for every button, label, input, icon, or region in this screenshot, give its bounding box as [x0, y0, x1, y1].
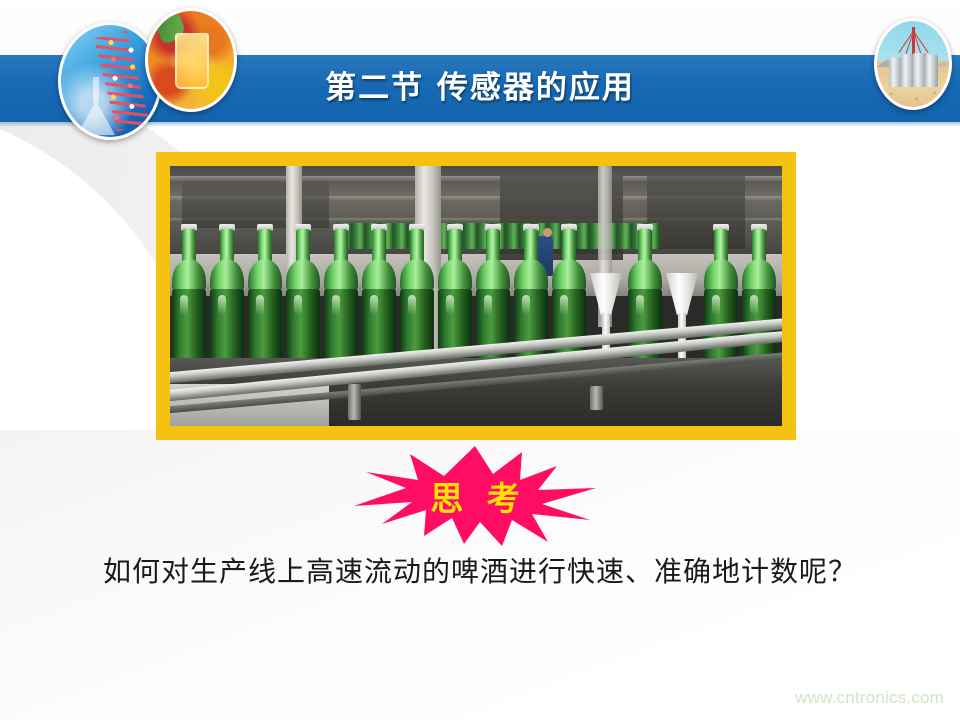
bottle-highlight	[750, 295, 758, 315]
beer-bottle	[172, 229, 206, 369]
funnel-cup	[666, 273, 698, 315]
bottle-shoulder	[400, 259, 434, 291]
silo-tank-icon	[925, 55, 938, 87]
beer-bottle	[400, 229, 434, 369]
bottle-highlight	[484, 295, 492, 315]
bottle-highlight	[332, 295, 340, 315]
dna-dots-icon	[103, 35, 143, 129]
bottle-neck	[258, 229, 272, 263]
photo-frame	[156, 152, 796, 440]
site-watermark: www.cntronics.com	[795, 688, 944, 708]
bottle-shoulder	[552, 259, 586, 291]
bottle-neck	[296, 229, 310, 263]
bottle-highlight	[560, 295, 568, 315]
bottle-highlight	[522, 295, 530, 315]
bottle-shoulder	[476, 259, 510, 291]
bottle-shoulder	[210, 259, 244, 291]
slide-canvas: 第二节 传感器的应用	[0, 0, 960, 720]
bottle-shoulder	[704, 259, 738, 291]
bottling-line-photo	[170, 166, 782, 426]
bottle-neck	[410, 229, 424, 263]
bottle-highlight	[712, 295, 720, 315]
bottle-neck	[486, 229, 500, 263]
beer-bottle	[248, 229, 282, 369]
bottle-neck	[334, 229, 348, 263]
bottle-highlight	[180, 295, 188, 315]
bottle-neck	[562, 229, 576, 263]
beer-bottle	[286, 229, 320, 369]
bottle-shoulder	[172, 259, 206, 291]
grain-silo-badge-icon	[874, 18, 952, 110]
bottle-neck	[714, 229, 728, 263]
bottle-shoulder	[324, 259, 358, 291]
bottle-highlight	[218, 295, 226, 315]
bottle-shoulder	[438, 259, 472, 291]
crane-cable-icon	[913, 31, 928, 53]
dna-lab-badge-icon	[58, 22, 162, 140]
beer-bottle	[324, 229, 358, 369]
beer-bottle	[362, 229, 396, 369]
bottle-neck	[638, 229, 652, 263]
juice-glass-icon	[175, 33, 209, 89]
beer-bottle	[742, 229, 776, 369]
bottle-highlight	[256, 295, 264, 315]
bottle-shoulder	[514, 259, 548, 291]
bottle-shoulder	[628, 259, 662, 291]
question-text: 如何对生产线上高速流动的啤酒进行快速、准确地计数呢？	[0, 550, 960, 590]
beer-bottle	[210, 229, 244, 369]
bottle-highlight	[408, 295, 416, 315]
bottle-shoulder	[248, 259, 282, 291]
bottle-highlight	[370, 295, 378, 315]
food-badge-icon	[145, 8, 237, 112]
bottle-neck	[182, 229, 196, 263]
conveyor-clamp	[590, 386, 603, 410]
bottle-shoulder	[742, 259, 776, 291]
conveyor-clamp	[348, 384, 361, 420]
bottle-highlight	[636, 295, 644, 315]
bottle-neck	[220, 229, 234, 263]
bottle-highlight	[446, 295, 454, 315]
bottle-neck	[524, 229, 538, 263]
bottle-neck	[752, 229, 766, 263]
machinery-block	[182, 182, 329, 229]
flask-neck-icon	[93, 77, 99, 103]
bottle-shoulder	[286, 259, 320, 291]
funnel-cup	[590, 273, 622, 315]
bottle-neck	[448, 229, 462, 263]
bottle-neck	[372, 229, 386, 263]
sand-ground-icon	[877, 85, 949, 107]
bottle-shoulder	[362, 259, 396, 291]
think-callout: 思 考	[352, 444, 598, 548]
bottle-highlight	[294, 295, 302, 315]
think-label: 思 考	[352, 444, 598, 548]
